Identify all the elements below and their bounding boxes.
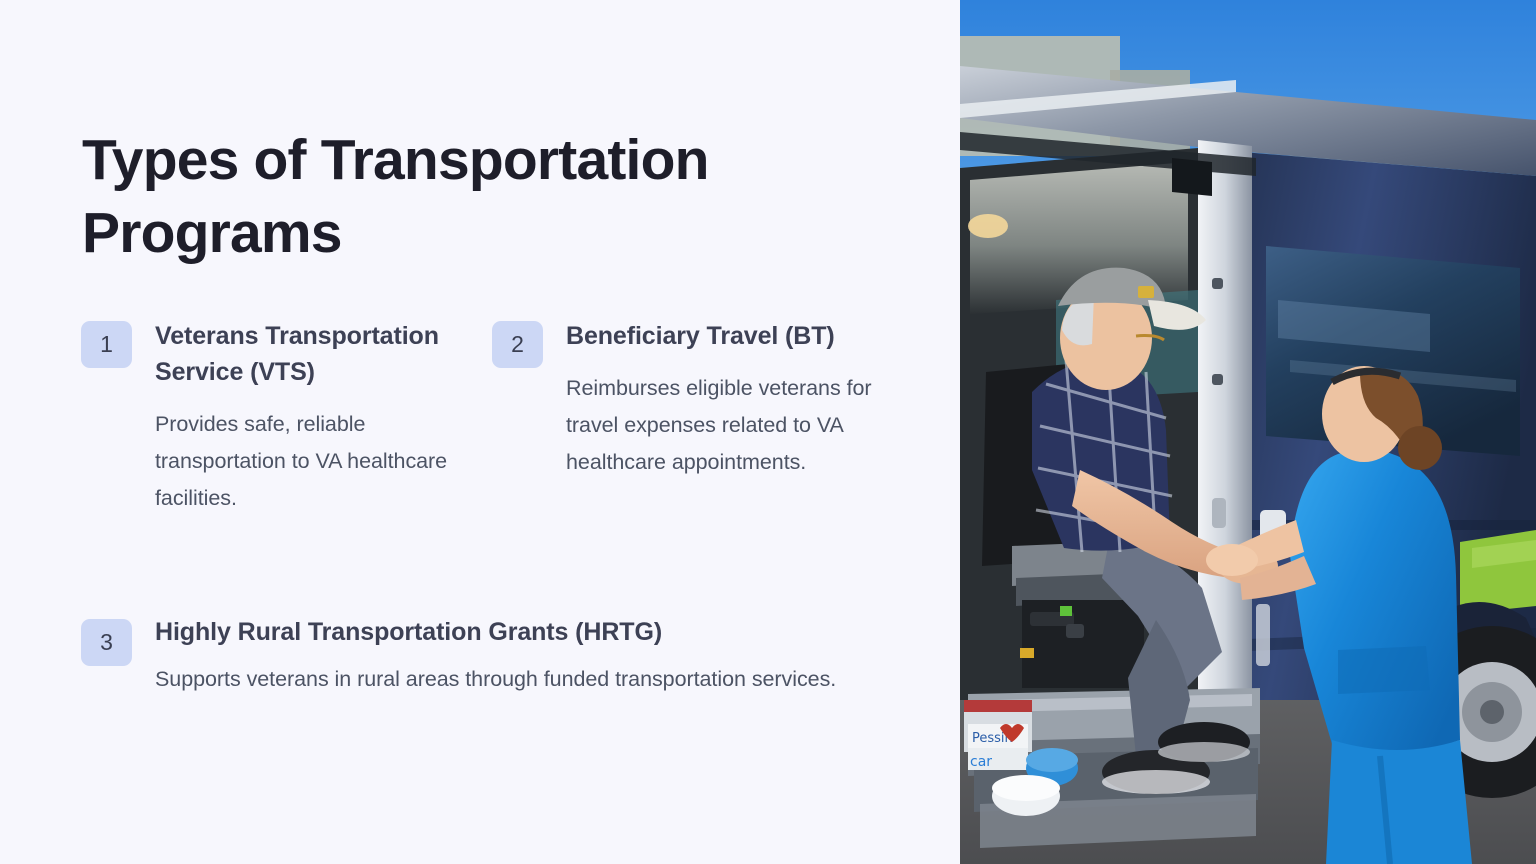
supply-box-sublabel: car <box>970 754 992 770</box>
caregiver-hair-bun <box>1398 426 1442 470</box>
veteran-boarding-accessible-van-photo: Pessin car <box>960 0 1536 864</box>
list-item-vts[interactable]: 1 Veterans Transportation Service (VTS) … <box>81 318 481 517</box>
program-list: 1 Veterans Transportation Service (VTS) … <box>0 318 960 590</box>
list-item-number-badge: 2 <box>492 321 543 368</box>
list-item-body: Beneficiary Travel (BT) Reimburses eligi… <box>543 318 904 481</box>
list-item-bt[interactable]: 2 Beneficiary Travel (BT) Reimburses eli… <box>492 318 904 481</box>
list-item-heading: Beneficiary Travel (BT) <box>566 318 904 354</box>
cap-logo <box>1138 286 1154 298</box>
page-title: Types of Transportation Programs <box>82 124 842 270</box>
list-item-number-badge: 1 <box>81 321 132 368</box>
list-item-heading: Veterans Transportation Service (VTS) <box>155 318 481 390</box>
list-item-body: Veterans Transportation Service (VTS) Pr… <box>132 318 481 517</box>
list-item-number-badge: 3 <box>81 619 132 666</box>
list-item-description: Provides safe, reliable transportation t… <box>155 406 481 517</box>
list-item-description: Reimburses eligible veterans for travel … <box>566 370 904 481</box>
slide-root: Types of Transportation Programs 1 Veter… <box>0 0 1536 864</box>
content-panel: Types of Transportation Programs 1 Veter… <box>0 0 960 864</box>
list-item-hrtg[interactable]: 3 Highly Rural Transportation Grants (HR… <box>81 616 881 697</box>
interior-dome-light <box>968 214 1008 238</box>
caregiver-scrub-pants <box>1326 740 1472 864</box>
photo-illustration: Pessin car <box>960 0 1536 864</box>
caregiver-hand <box>1206 544 1258 576</box>
list-item-body: Highly Rural Transportation Grants (HRTG… <box>132 616 881 697</box>
scrub-pocket <box>1338 646 1430 694</box>
program-list-row-top: 1 Veterans Transportation Service (VTS) … <box>0 318 960 590</box>
list-item-description: Supports veterans in rural areas through… <box>155 661 881 698</box>
list-item-heading: Highly Rural Transportation Grants (HRTG… <box>155 616 881 649</box>
